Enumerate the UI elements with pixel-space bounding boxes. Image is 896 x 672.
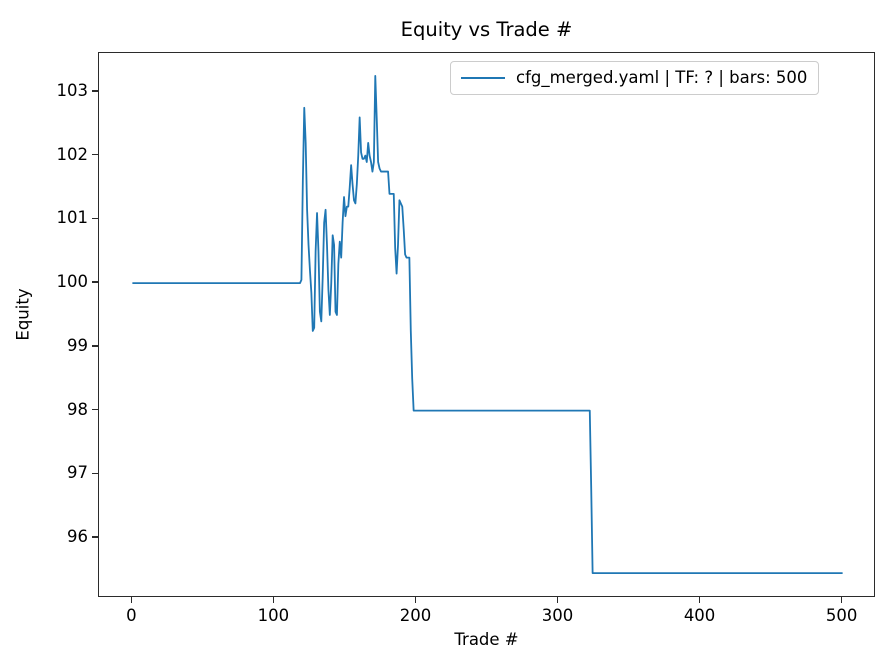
y-tick-label: 103 xyxy=(57,83,89,100)
y-tick-label: 100 xyxy=(57,274,89,291)
chart-title: Equity vs Trade # xyxy=(98,18,875,41)
figure-canvas: Equity vs Trade # 96979899100101102103 0… xyxy=(0,0,896,672)
plot-area xyxy=(98,52,875,597)
y-tick-label: 97 xyxy=(67,465,88,482)
x-tick-label: 0 xyxy=(126,608,137,625)
x-axis-label: Trade # xyxy=(98,630,875,649)
y-tick-label: 96 xyxy=(67,529,88,546)
x-tick-label: 400 xyxy=(684,608,716,625)
x-tick-label: 300 xyxy=(542,608,574,625)
y-tick-label: 101 xyxy=(57,210,89,227)
x-tick-label: 100 xyxy=(258,608,290,625)
x-tick-label: 200 xyxy=(400,608,432,625)
equity-line-plot xyxy=(99,53,876,598)
equity-series-line xyxy=(132,76,842,573)
y-tick-label: 102 xyxy=(57,147,89,164)
y-axis-label: Equity xyxy=(14,260,33,370)
legend-box: cfg_merged.yaml | TF: ? | bars: 500 xyxy=(450,61,819,95)
legend-line-swatch-icon xyxy=(461,77,505,79)
x-tick-label: 500 xyxy=(826,608,858,625)
legend-entry-label: cfg_merged.yaml | TF: ? | bars: 500 xyxy=(516,70,807,87)
y-tick-label: 98 xyxy=(67,402,88,419)
y-tick-label: 99 xyxy=(67,338,88,355)
